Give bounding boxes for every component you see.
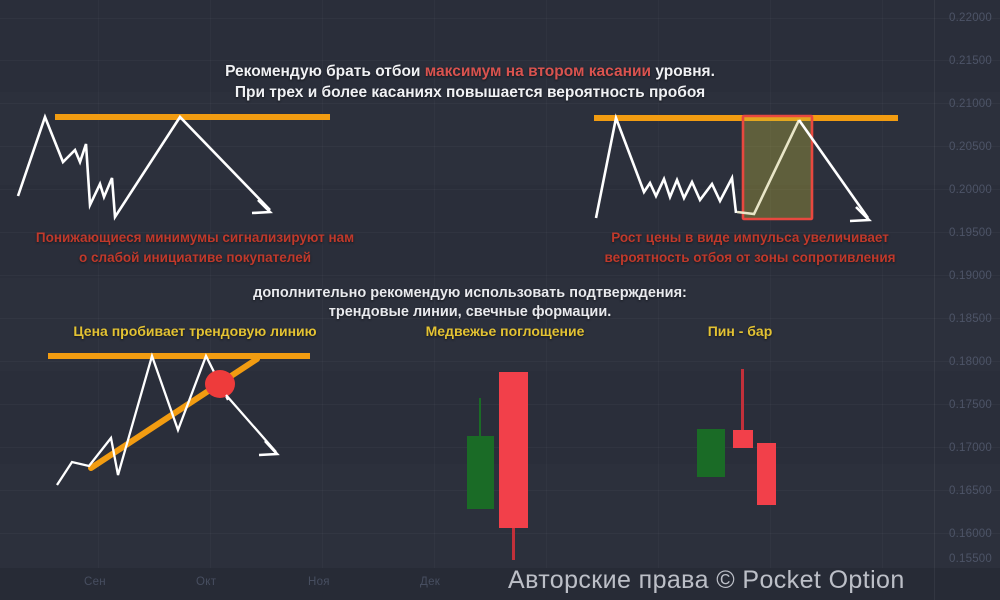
note-left-line-1: Понижающиеся минимумы сигнализируют нам: [0, 228, 390, 248]
pin-bar-body: [733, 430, 753, 448]
red-candle-body: [757, 443, 776, 505]
time-tick-label: Ноя: [308, 576, 330, 588]
price-tick-label: 0.17500: [949, 399, 992, 411]
middle-line-2: трендовые линии, свечные формации.: [0, 303, 940, 323]
candle-group-engulfing: [455, 370, 595, 565]
note-left: Понижающиеся минимумы сигнализируют нам …: [0, 228, 390, 267]
price-tick-label: 0.15500: [949, 553, 992, 565]
pin-bar-upper-wick: [741, 369, 744, 431]
note-right: Рост цены в виде импульса увеличивает ве…: [560, 228, 940, 267]
red-candle-wick: [512, 525, 515, 560]
price-tick-label: 0.21500: [949, 55, 992, 67]
breakout-point-marker: [205, 370, 235, 398]
price-tick-label: 0.16500: [949, 485, 992, 497]
diagram-impulse-rebound: [580, 100, 940, 235]
copyright-watermark: Авторские права © Pocket Option: [508, 566, 905, 595]
price-path: [57, 356, 228, 485]
section-title-engulfing: Медвежье поглощение: [390, 322, 620, 341]
price-tick-label: 0.19500: [949, 227, 992, 239]
time-tick-label: Дек: [420, 576, 440, 588]
price-path-approach: [596, 118, 736, 218]
header-line-1-part-b: уровня.: [655, 63, 715, 80]
down-arrow-head: [259, 441, 277, 455]
green-candle-wick: [479, 398, 481, 438]
time-tick-label: Сен: [84, 576, 106, 588]
diagram-lower-highs: [0, 100, 360, 230]
red-candle-body: [499, 372, 528, 528]
ascending-trendline: [91, 359, 257, 468]
note-right-line-1: Рост цены в виде импульса увеличивает: [560, 228, 940, 248]
chart-screenshot: 0.22000 0.21500 0.21000 0.20500 0.20000 …: [0, 0, 1000, 600]
middle-line-1: дополнительно рекомендую использовать по…: [0, 284, 940, 304]
green-candle-body: [467, 436, 494, 509]
section-title-trendline: Цена пробивает трендовую линию: [0, 322, 390, 341]
price-tick-label: 0.18000: [949, 356, 992, 368]
green-candle-body: [697, 429, 725, 477]
price-tick-label: 0.21000: [949, 98, 992, 110]
section-title-pinbar: Пин - бар: [640, 322, 840, 341]
price-tick-label: 0.19000: [949, 270, 992, 282]
grid-line: [0, 60, 1000, 61]
grid-line: [0, 275, 1000, 276]
price-path: [18, 117, 270, 217]
price-tick-label: 0.16000: [949, 528, 992, 540]
note-left-line-2: о слабой инициативе покупателей: [0, 248, 390, 268]
candle-group-pinbar: [690, 360, 830, 510]
price-tick-label: 0.18500: [949, 313, 992, 325]
diagram-trendline-break: [0, 340, 360, 490]
header-line-1-part-a: Рекомендую брать отбои: [225, 63, 420, 80]
header-line-1: Рекомендую брать отбои максимум на второ…: [0, 62, 940, 83]
note-right-line-2: вероятность отбоя от зоны сопротивления: [560, 248, 940, 268]
price-tick-label: 0.17000: [949, 442, 992, 454]
header-line-1-accent: максимум на втором касании: [425, 63, 651, 80]
price-tick-label: 0.22000: [949, 12, 992, 24]
price-tick-label: 0.20500: [949, 141, 992, 153]
price-tick-label: 0.20000: [949, 184, 992, 196]
grid-line: [0, 18, 1000, 19]
time-tick-label: Окт: [196, 576, 216, 588]
